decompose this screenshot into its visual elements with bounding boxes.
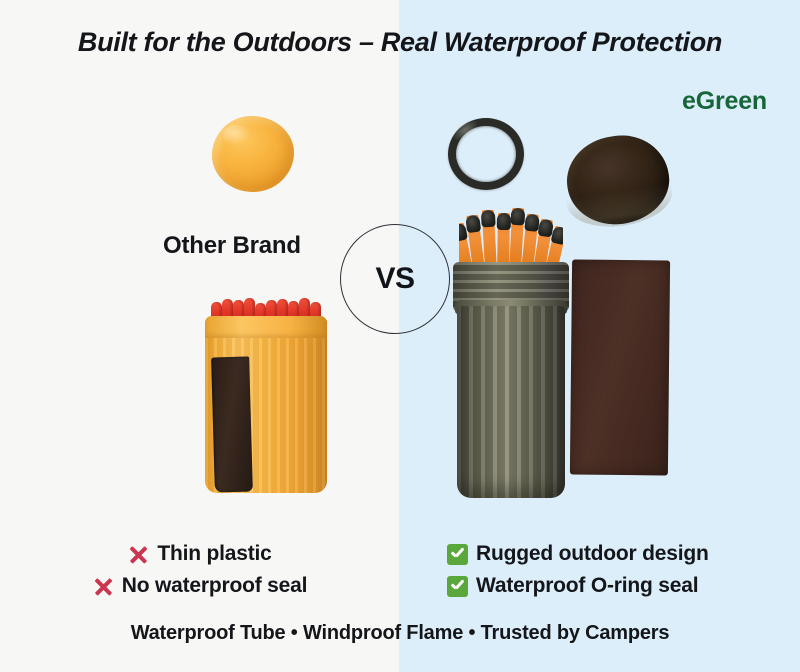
list-item: Thin plastic [0, 538, 399, 570]
other-brand-label: Other Brand [163, 232, 301, 260]
x-mark-icon [127, 543, 150, 566]
check-box-icon [447, 576, 468, 597]
x-mark-icon [92, 575, 115, 598]
feature-label: Thin plastic [157, 542, 271, 566]
right-feature-list: Rugged outdoor design Waterproof O-ring … [399, 538, 798, 608]
o-ring-icon [448, 118, 524, 190]
check-box-icon [447, 544, 468, 565]
feature-comparison: Thin plastic No waterproof seal Rugged o… [0, 538, 800, 608]
orange-matches-icon [459, 203, 563, 271]
page-title: Built for the Outdoors – Real Waterproof… [0, 27, 800, 58]
brand-label-egreen: eGreen [682, 87, 767, 116]
footer-tagline: Waterproof Tube • Windproof Flame • Trus… [0, 622, 800, 645]
feature-label: No waterproof seal [122, 574, 307, 598]
metal-tube-body [457, 306, 565, 498]
vs-label: VS [340, 224, 450, 334]
black-striker-strip-icon [211, 356, 253, 492]
feature-label: Waterproof O-ring seal [476, 574, 698, 598]
list-item: No waterproof seal [0, 570, 399, 602]
list-item: Waterproof O-ring seal [399, 570, 798, 602]
orange-plastic-cap-icon [212, 116, 294, 192]
striker-pad-icon [570, 259, 670, 475]
comparison-infographic: Built for the Outdoors – Real Waterproof… [0, 0, 800, 672]
list-item: Rugged outdoor design [399, 538, 798, 570]
feature-label: Rugged outdoor design [476, 542, 709, 566]
orange-tube-rim [205, 316, 327, 338]
left-feature-list: Thin plastic No waterproof seal [0, 538, 399, 608]
